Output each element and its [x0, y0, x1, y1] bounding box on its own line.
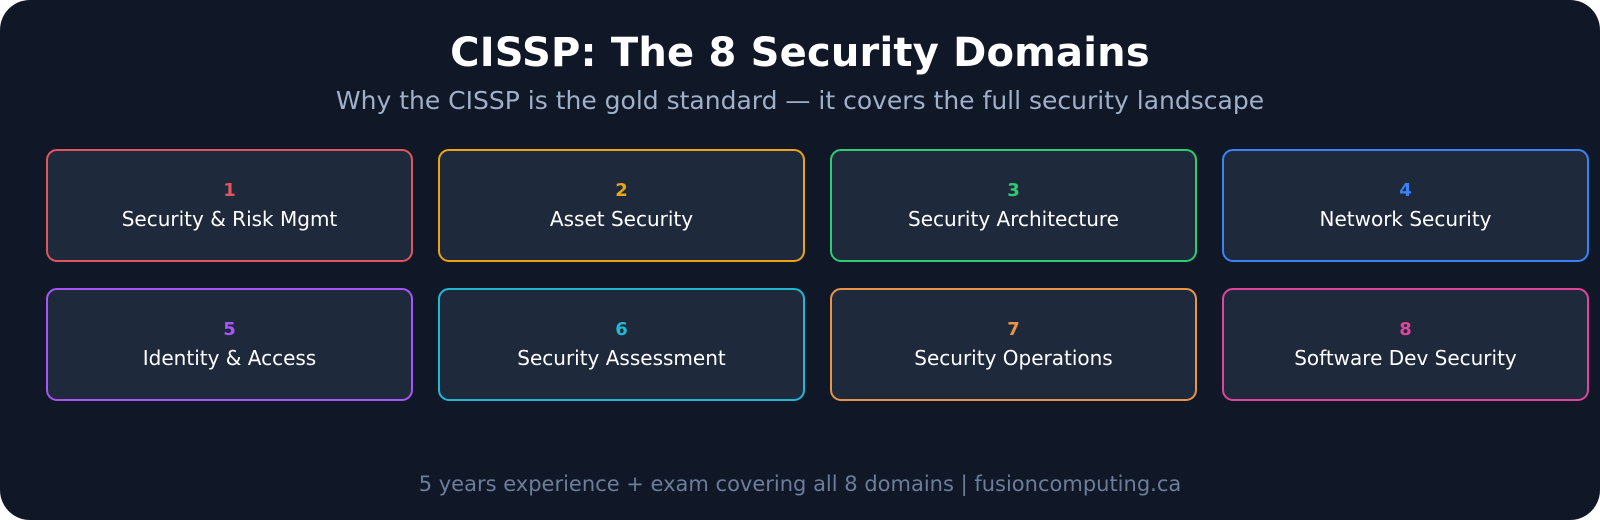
domain-card-2[interactable]: 2 Asset Security: [438, 149, 805, 262]
domain-card-4[interactable]: 4 Network Security: [1222, 149, 1589, 262]
domain-card-8[interactable]: 8 Software Dev Security: [1222, 288, 1589, 401]
footer-credit: 5 years experience + exam covering all 8…: [0, 472, 1600, 496]
domain-card-grid: 1 Security & Risk Mgmt 2 Asset Security …: [46, 149, 1600, 401]
domain-label: Security & Risk Mgmt: [122, 209, 338, 229]
domain-number: 5: [223, 321, 236, 339]
infographic-header: CISSP: The 8 Security Domains Why the CI…: [46, 30, 1554, 116]
domain-card-3[interactable]: 3 Security Architecture: [830, 149, 1197, 262]
domain-card-1[interactable]: 1 Security & Risk Mgmt: [46, 149, 413, 262]
domain-number: 1: [223, 182, 236, 200]
domain-number: 6: [615, 321, 628, 339]
page-title: CISSP: The 8 Security Domains: [46, 30, 1554, 76]
screenshot-stage: CISSP: The 8 Security Domains Why the CI…: [0, 0, 1600, 520]
domain-number: 3: [1007, 182, 1020, 200]
domain-number: 2: [615, 182, 628, 200]
domain-card-5[interactable]: 5 Identity & Access: [46, 288, 413, 401]
domain-card-7[interactable]: 7 Security Operations: [830, 288, 1197, 401]
domain-number: 4: [1399, 182, 1412, 200]
domain-number: 7: [1007, 321, 1020, 339]
domain-label: Identity & Access: [143, 348, 316, 368]
domain-label: Asset Security: [550, 209, 693, 229]
domain-label: Security Assessment: [517, 348, 725, 368]
domain-card-6[interactable]: 6 Security Assessment: [438, 288, 805, 401]
page-subtitle: Why the CISSP is the gold standard — it …: [46, 86, 1554, 116]
cissp-domains-infographic: CISSP: The 8 Security Domains Why the CI…: [0, 0, 1600, 520]
domain-label: Security Operations: [914, 348, 1112, 368]
domain-label: Network Security: [1320, 209, 1492, 229]
domain-label: Software Dev Security: [1294, 348, 1517, 368]
domain-number: 8: [1399, 321, 1412, 339]
domain-label: Security Architecture: [908, 209, 1119, 229]
